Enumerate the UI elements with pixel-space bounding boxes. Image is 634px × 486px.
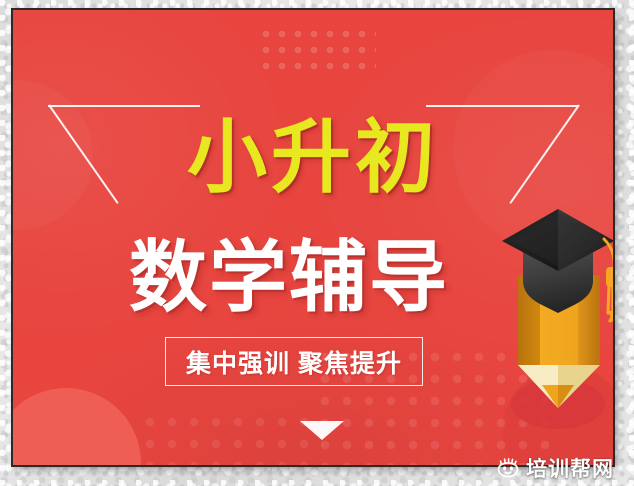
promo-poster: 小升初 数学辅导 集中强训 聚焦提升 [13,10,613,465]
bracket-rule-right [426,105,578,107]
subtitle-text: 集中强训 聚焦提升 [186,344,402,380]
headline-primary: 小升初 [13,118,613,198]
down-arrow-icon [300,421,344,440]
dot-grid-bottom-left [133,405,323,465]
bracket-rule-left [48,105,200,107]
watermark-text: 培训帮网 [526,453,614,483]
site-watermark: 培训帮网 [492,452,622,484]
graduation-cap-pencil-icon [496,203,613,438]
subtitle-box: 集中强训 聚焦提升 [165,337,423,386]
sun-face-icon [496,456,520,480]
decorative-circle-bottom-left [13,388,141,465]
dot-grid-top [254,22,376,74]
screenshot-canvas: 小升初 数学辅导 集中强训 聚焦提升 [0,0,634,486]
